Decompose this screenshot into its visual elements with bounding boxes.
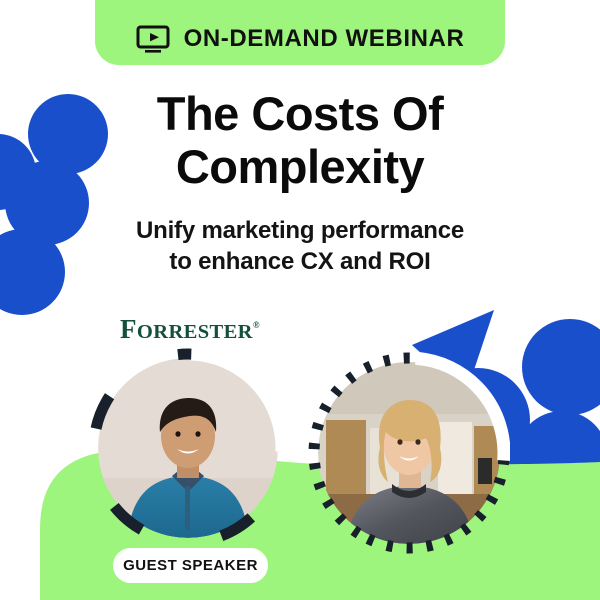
webinar-promo-poster: ON-DEMAND WEBINAR The Costs Of Complexit… bbox=[0, 0, 600, 600]
badge-content: ON-DEMAND WEBINAR bbox=[136, 25, 465, 53]
video-monitor-play-icon bbox=[136, 25, 170, 53]
guest-speaker-label: GUEST SPEAKER bbox=[123, 558, 258, 573]
forrester-logo-rest: ORRESTER bbox=[137, 321, 253, 343]
guest-speaker-badge: GUEST SPEAKER bbox=[113, 548, 268, 583]
on-demand-webinar-badge: ON-DEMAND WEBINAR bbox=[95, 0, 505, 65]
subhead-line-1: Unify marketing performance bbox=[85, 215, 515, 246]
forrester-logo-initial: F bbox=[120, 314, 137, 344]
page-subtitle: Unify marketing performance to enhance C… bbox=[85, 215, 515, 277]
registered-trademark-icon: ® bbox=[253, 320, 260, 330]
dashed-arc-right bbox=[308, 352, 510, 554]
page-title: The Costs Of Complexity bbox=[90, 88, 510, 193]
headline-block: The Costs Of Complexity Unify marketing … bbox=[0, 88, 600, 278]
forrester-logo: FORRESTER® bbox=[120, 316, 260, 343]
headline-line-1: The Costs Of bbox=[90, 88, 510, 141]
badge-label: ON-DEMAND WEBINAR bbox=[184, 27, 465, 51]
subhead-line-2: to enhance CX and ROI bbox=[85, 246, 515, 277]
dashed-arc-left bbox=[88, 348, 288, 548]
headline-line-2: Complexity bbox=[90, 141, 510, 194]
